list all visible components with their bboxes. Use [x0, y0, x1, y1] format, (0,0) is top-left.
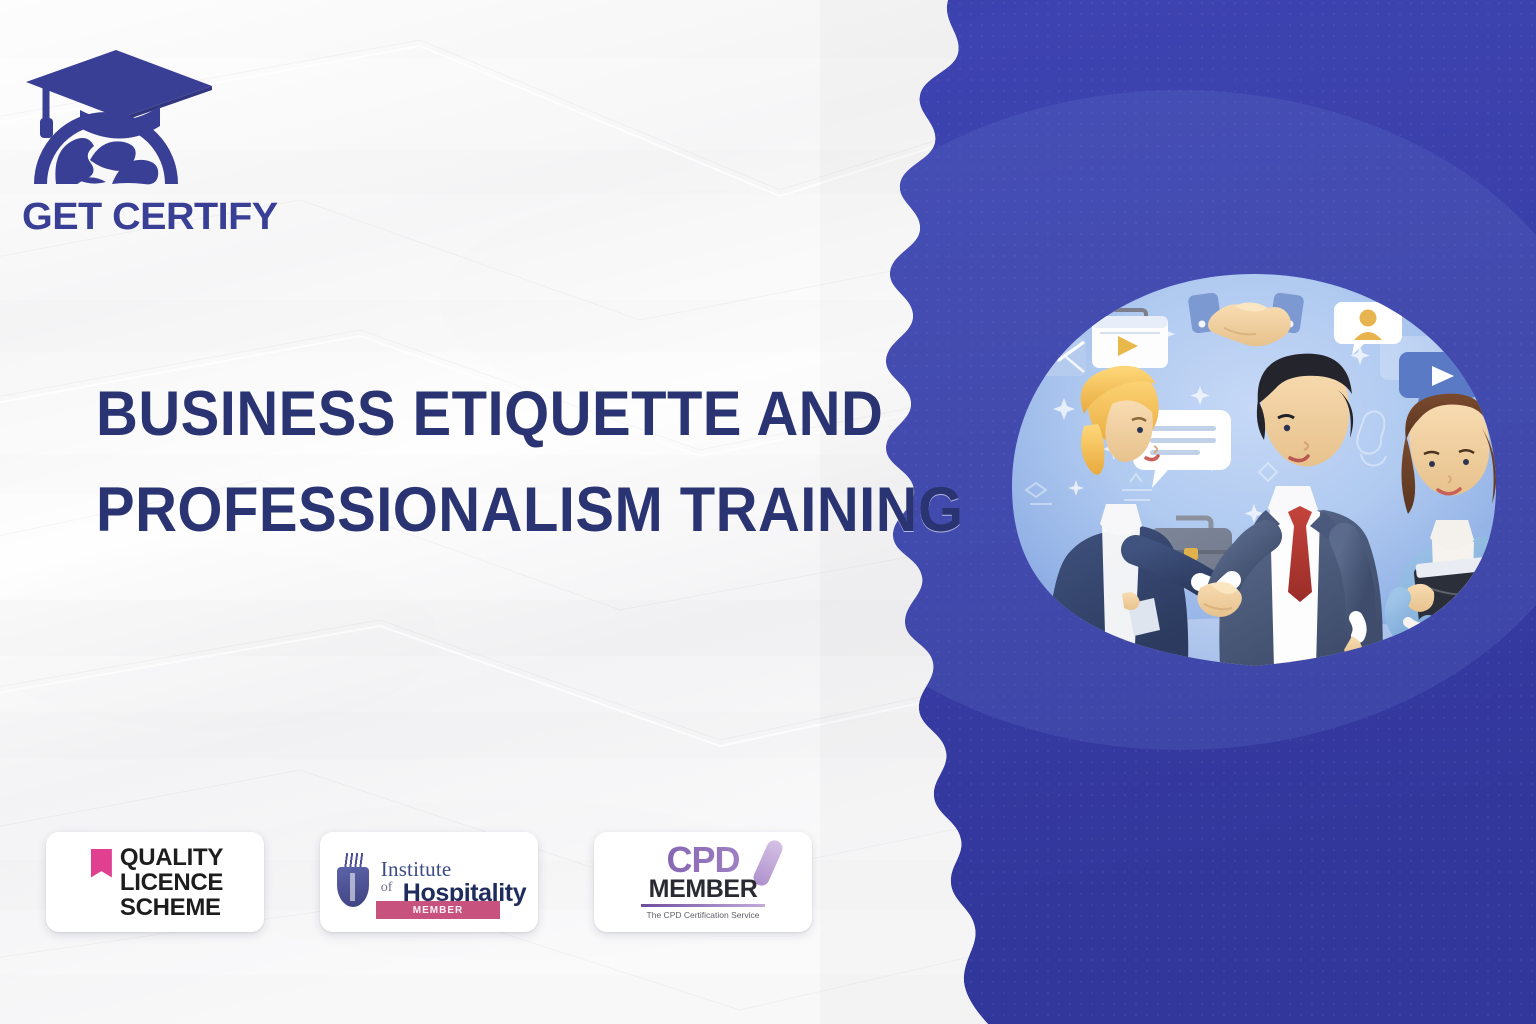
crest-shield-icon: [332, 853, 374, 911]
cpd-line-1: CPD: [594, 843, 812, 877]
badge-cpd-member[interactable]: CPD MEMBER The CPD Certification Service: [594, 832, 812, 932]
cpd-divider: [641, 904, 765, 907]
accreditation-badges: QUALITY LICENCE SCHEME Institute of Hosp…: [46, 832, 812, 932]
qls-line-2: LICENCE: [120, 870, 223, 895]
envelope-icon: [1032, 338, 1086, 376]
brand-logo[interactable]: GET CERTIFY: [16, 34, 226, 229]
logo-wordmark: GET CERTIFY: [22, 196, 230, 239]
badge-institute-of-hospitality[interactable]: Institute of Hospitality MEMBER: [320, 832, 538, 932]
ioh-member-band: MEMBER: [376, 901, 500, 919]
badge-quality-licence-scheme[interactable]: QUALITY LICENCE SCHEME: [46, 832, 264, 932]
page-title: BUSINESS ETIQUETTE AND PROFESSIONALISM T…: [96, 366, 823, 558]
qls-line-1: QUALITY: [120, 845, 223, 870]
graduation-cap-globe-icon: [16, 34, 226, 194]
cpd-line-3: The CPD Certification Service: [594, 910, 812, 921]
portfolio-case-icon: [1092, 310, 1168, 368]
illustration-svg: [1004, 268, 1504, 708]
poster-canvas: GET CERTIFY BUSINESS ETIQUETTE AND PROFE…: [0, 0, 1536, 1024]
qls-line-3: SCHEME: [120, 895, 223, 920]
cpd-line-2: MEMBER: [594, 877, 812, 902]
ioh-band-label: MEMBER: [413, 905, 463, 916]
ioh-line-1: Institute: [381, 859, 526, 880]
business-handshake-illustration: [1004, 268, 1504, 708]
headline-line-2: PROFESSIONALISM TRAINING: [96, 462, 823, 558]
headline-line-1: BUSINESS ETIQUETTE AND: [96, 366, 823, 462]
ribbon-bookmark-icon: [91, 849, 112, 878]
